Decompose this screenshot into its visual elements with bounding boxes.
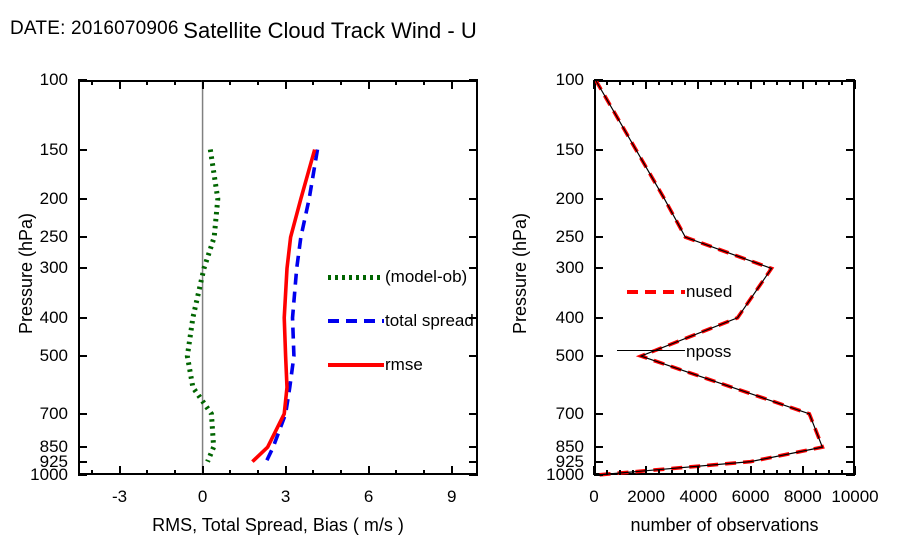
x-tick-mark <box>854 80 856 89</box>
y-tick-mark <box>846 355 855 357</box>
x-minor-tick-mark <box>632 470 634 475</box>
x-tick-mark <box>750 466 752 475</box>
x-tick-mark <box>697 466 699 475</box>
x-minor-tick-mark <box>776 470 778 475</box>
right-y-axis-title: Pressure (hPa) <box>510 212 531 333</box>
x-minor-tick-mark <box>737 80 739 85</box>
x-tick-label: 0 <box>589 487 598 507</box>
legend-swatch-dashed <box>627 290 685 294</box>
y-tick-mark <box>594 267 603 269</box>
y-tick-mark <box>594 413 603 415</box>
x-minor-tick-mark <box>828 80 830 85</box>
x-tick-label: 10000 <box>831 487 878 507</box>
y-tick-label: 200 <box>528 189 584 209</box>
x-tick-mark <box>593 466 595 475</box>
y-tick-mark <box>594 355 603 357</box>
y-tick-mark <box>846 267 855 269</box>
x-minor-tick-mark <box>671 80 673 85</box>
right-x-axis-title: number of observations <box>630 515 818 536</box>
x-tick-mark <box>750 80 752 89</box>
x-minor-tick-mark <box>619 470 621 475</box>
y-tick-mark <box>594 236 603 238</box>
x-minor-tick-mark <box>763 470 765 475</box>
series-line-nposs <box>596 80 823 475</box>
legend-label: nposs <box>686 342 731 362</box>
y-tick-mark <box>846 461 855 463</box>
x-minor-tick-mark <box>815 80 817 85</box>
right-series-layer <box>0 0 900 560</box>
y-tick-mark <box>594 317 603 319</box>
x-tick-mark <box>802 80 804 89</box>
x-tick-label: 6000 <box>732 487 770 507</box>
y-tick-label: 1000 <box>528 465 584 485</box>
y-tick-mark <box>846 413 855 415</box>
x-minor-tick-mark <box>658 80 660 85</box>
x-minor-tick-mark <box>606 80 608 85</box>
y-tick-mark <box>594 461 603 463</box>
x-tick-label: 8000 <box>784 487 822 507</box>
y-tick-label: 150 <box>528 140 584 160</box>
x-tick-mark <box>593 80 595 89</box>
x-tick-mark <box>854 466 856 475</box>
x-minor-tick-mark <box>737 470 739 475</box>
x-minor-tick-mark <box>658 470 660 475</box>
y-tick-mark <box>594 198 603 200</box>
legend-swatch-solid-thin <box>617 350 685 351</box>
y-tick-label: 250 <box>528 227 584 247</box>
x-tick-mark <box>802 466 804 475</box>
plot-canvas: DATE: 2016070906 Satellite Cloud Track W… <box>0 0 900 560</box>
x-minor-tick-mark <box>828 470 830 475</box>
y-tick-label: 400 <box>528 308 584 328</box>
x-minor-tick-mark <box>776 80 778 85</box>
x-tick-label: 4000 <box>679 487 717 507</box>
y-tick-mark <box>846 198 855 200</box>
y-tick-label: 700 <box>528 404 584 424</box>
x-tick-mark <box>697 80 699 89</box>
y-tick-mark <box>846 149 855 151</box>
y-tick-mark <box>594 149 603 151</box>
y-tick-label: 100 <box>528 70 584 90</box>
x-minor-tick-mark <box>724 80 726 85</box>
y-tick-label: 500 <box>528 346 584 366</box>
x-tick-mark <box>645 80 647 89</box>
x-minor-tick-mark <box>606 470 608 475</box>
legend-label: nused <box>686 282 732 302</box>
x-minor-tick-mark <box>710 470 712 475</box>
y-tick-mark <box>594 446 603 448</box>
x-minor-tick-mark <box>632 80 634 85</box>
x-minor-tick-mark <box>841 80 843 85</box>
x-minor-tick-mark <box>763 80 765 85</box>
y-tick-mark <box>846 317 855 319</box>
x-minor-tick-mark <box>684 470 686 475</box>
x-minor-tick-mark <box>841 470 843 475</box>
x-minor-tick-mark <box>724 470 726 475</box>
y-tick-label: 300 <box>528 258 584 278</box>
y-tick-mark <box>594 474 603 476</box>
x-minor-tick-mark <box>710 80 712 85</box>
x-minor-tick-mark <box>684 80 686 85</box>
x-tick-label: 2000 <box>627 487 665 507</box>
y-tick-mark <box>594 79 603 81</box>
x-minor-tick-mark <box>789 470 791 475</box>
x-minor-tick-mark <box>789 80 791 85</box>
x-tick-mark <box>645 466 647 475</box>
x-minor-tick-mark <box>619 80 621 85</box>
x-minor-tick-mark <box>671 470 673 475</box>
x-minor-tick-mark <box>815 470 817 475</box>
y-tick-mark <box>846 446 855 448</box>
y-tick-mark <box>846 236 855 238</box>
